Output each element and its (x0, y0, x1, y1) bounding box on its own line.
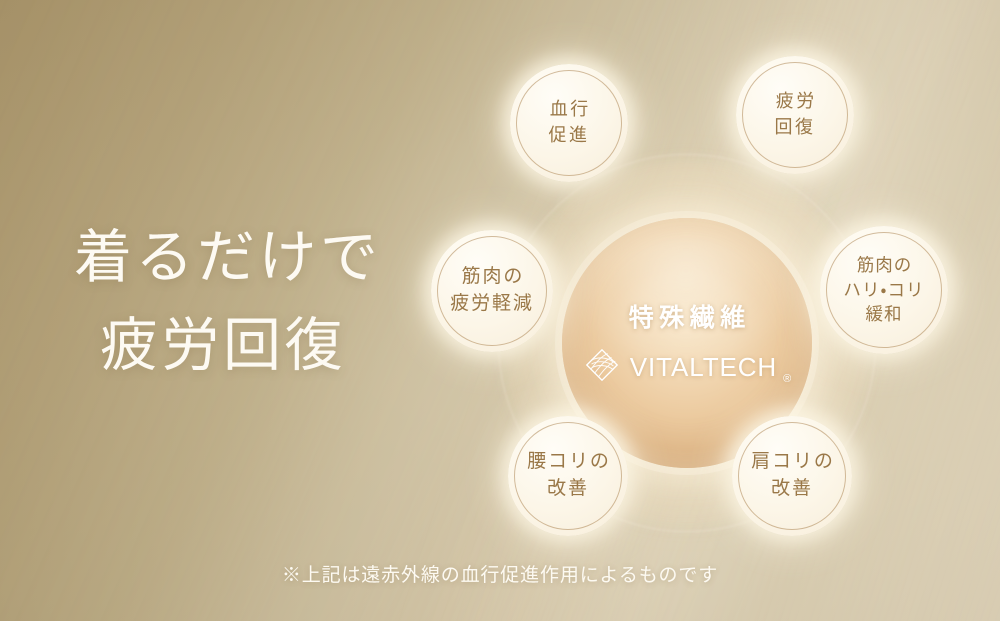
benefit-bubble-fatigue-recovery[interactable]: 疲労 回復 (736, 56, 854, 174)
footnote: ※上記は遠赤外線の血行促進作用によるものです (0, 560, 1000, 587)
registered-mark: ® (783, 374, 791, 389)
benefit-bubble-muscle-stiffness[interactable]: 筋肉の ハリ・コリ 緩和 (820, 226, 948, 354)
promo-banner: 着るだけで 疲労回復 特殊繊維 (0, 0, 1000, 621)
hub-title: 特殊繊維 (623, 298, 751, 334)
benefit-bubble-lower-back[interactable]: 腰コリの 改善 (508, 416, 628, 536)
vitaltech-diamond-logo-icon (583, 346, 621, 389)
benefit-bubble-muscle-fatigue[interactable]: 筋肉の 疲労軽減 (431, 230, 553, 352)
benefit-label: 筋肉の 疲労軽減 (450, 264, 534, 318)
benefit-label: 疲労 回復 (773, 89, 817, 140)
benefit-cluster: 特殊繊維 (410, 42, 970, 542)
benefit-label: 筋肉の ハリ・コリ 緩和 (843, 253, 924, 327)
benefit-bubble-shoulder[interactable]: 肩コリの 改善 (732, 416, 852, 536)
benefit-label: 血行 促進 (547, 97, 591, 148)
benefit-label: 肩コリの 改善 (749, 449, 835, 503)
headline-line-2: 疲労回復 (74, 302, 404, 390)
brand-lockup: VITALTECH ® (583, 346, 791, 389)
headline-line-1: 着るだけで (74, 214, 404, 302)
benefit-bubble-blood-circulation[interactable]: 血行 促進 (510, 64, 628, 182)
brand-name: VITALTECH (630, 352, 777, 383)
benefit-label: 腰コリの 改善 (525, 449, 611, 503)
headline: 着るだけで 疲労回復 (74, 214, 404, 390)
